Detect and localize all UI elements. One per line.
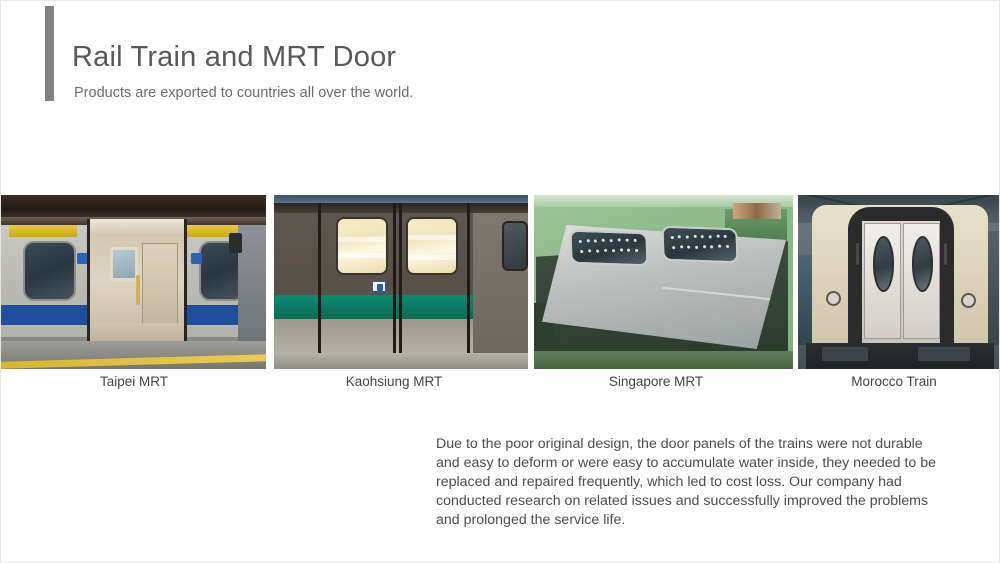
rivet-holes-left	[576, 236, 643, 260]
adjacent-train-window	[502, 221, 528, 271]
kaohsiung-mrt-photo-content	[274, 195, 528, 369]
title-accent-bar	[45, 6, 54, 101]
door-seam-left-outer	[318, 203, 321, 353]
singapore-mrt-photo-content	[534, 195, 793, 369]
body-paragraph: Due to the poor original design, the doo…	[436, 435, 941, 530]
gallery-image-taipei-mrt	[1, 195, 266, 369]
door-sign-strip-left	[9, 225, 77, 237]
rivet-holes-right	[668, 232, 733, 257]
carriage-interior-door	[142, 243, 178, 325]
station-platform	[1, 341, 266, 369]
slide: Rail Train and MRT Door Products are exp…	[0, 0, 1000, 563]
window-reflection-lower	[408, 255, 456, 260]
carriage-ceiling	[90, 219, 184, 235]
door-seam-center-right	[399, 203, 402, 353]
bogie-left	[822, 347, 868, 361]
gallery-image-kaohsiung-mrt	[274, 195, 528, 369]
gallery-image-singapore-mrt	[534, 195, 793, 369]
train-door-right	[903, 223, 940, 339]
panel-seam	[662, 287, 781, 301]
platform-speaker	[229, 233, 242, 253]
platform-tactile-line	[1, 354, 266, 368]
window-reflection-upper	[408, 235, 456, 240]
door-seam-center-left	[393, 203, 396, 353]
open-doorway	[87, 219, 187, 359]
gallery-image-morocco-train	[798, 195, 1000, 369]
gallery-caption-kaohsiung-mrt: Kaohsiung MRT	[294, 374, 494, 389]
depot-right-opening	[987, 231, 1000, 345]
grab-handle-right	[944, 243, 947, 265]
window-cutout-left	[569, 230, 648, 267]
station-platform	[274, 353, 528, 369]
gallery-caption-singapore-mrt: Singapore MRT	[556, 374, 756, 389]
wheelchair-accessible-icon	[372, 281, 386, 292]
adjacent-carriage-section	[238, 225, 266, 341]
blue-stripe-left	[1, 305, 89, 325]
coupler-gauge-left	[826, 291, 841, 306]
window-cutout-right	[661, 226, 738, 264]
gallery-caption-taipei-mrt: Taipei MRT	[34, 374, 234, 389]
door-oval-window-right	[912, 236, 933, 292]
coupler-gauge-right	[961, 293, 976, 308]
page-subtitle: Products are exported to countries all o…	[74, 85, 413, 101]
door-window-left	[336, 217, 388, 275]
bogie-right	[918, 347, 970, 361]
train-window-left	[23, 241, 76, 301]
door-seam-right-outer	[467, 203, 470, 353]
factory-floor	[534, 351, 793, 369]
priority-seat-sign-right	[191, 253, 202, 264]
train-door-left	[864, 223, 901, 339]
carriage-handrail	[136, 275, 140, 305]
gallery-caption-morocco-train: Morocco Train	[794, 374, 994, 389]
door-oval-window-left	[873, 236, 894, 292]
grab-handle-left	[856, 243, 859, 265]
window-reflection-upper	[338, 237, 386, 242]
page-title: Rail Train and MRT Door	[72, 41, 396, 74]
door-window-right	[406, 217, 458, 275]
window-reflection-lower	[338, 253, 386, 258]
shelf-items	[733, 203, 781, 219]
taipei-mrt-photo-content	[1, 195, 266, 369]
carriage-interior-window	[110, 247, 138, 281]
morocco-train-photo-content	[798, 195, 1000, 369]
